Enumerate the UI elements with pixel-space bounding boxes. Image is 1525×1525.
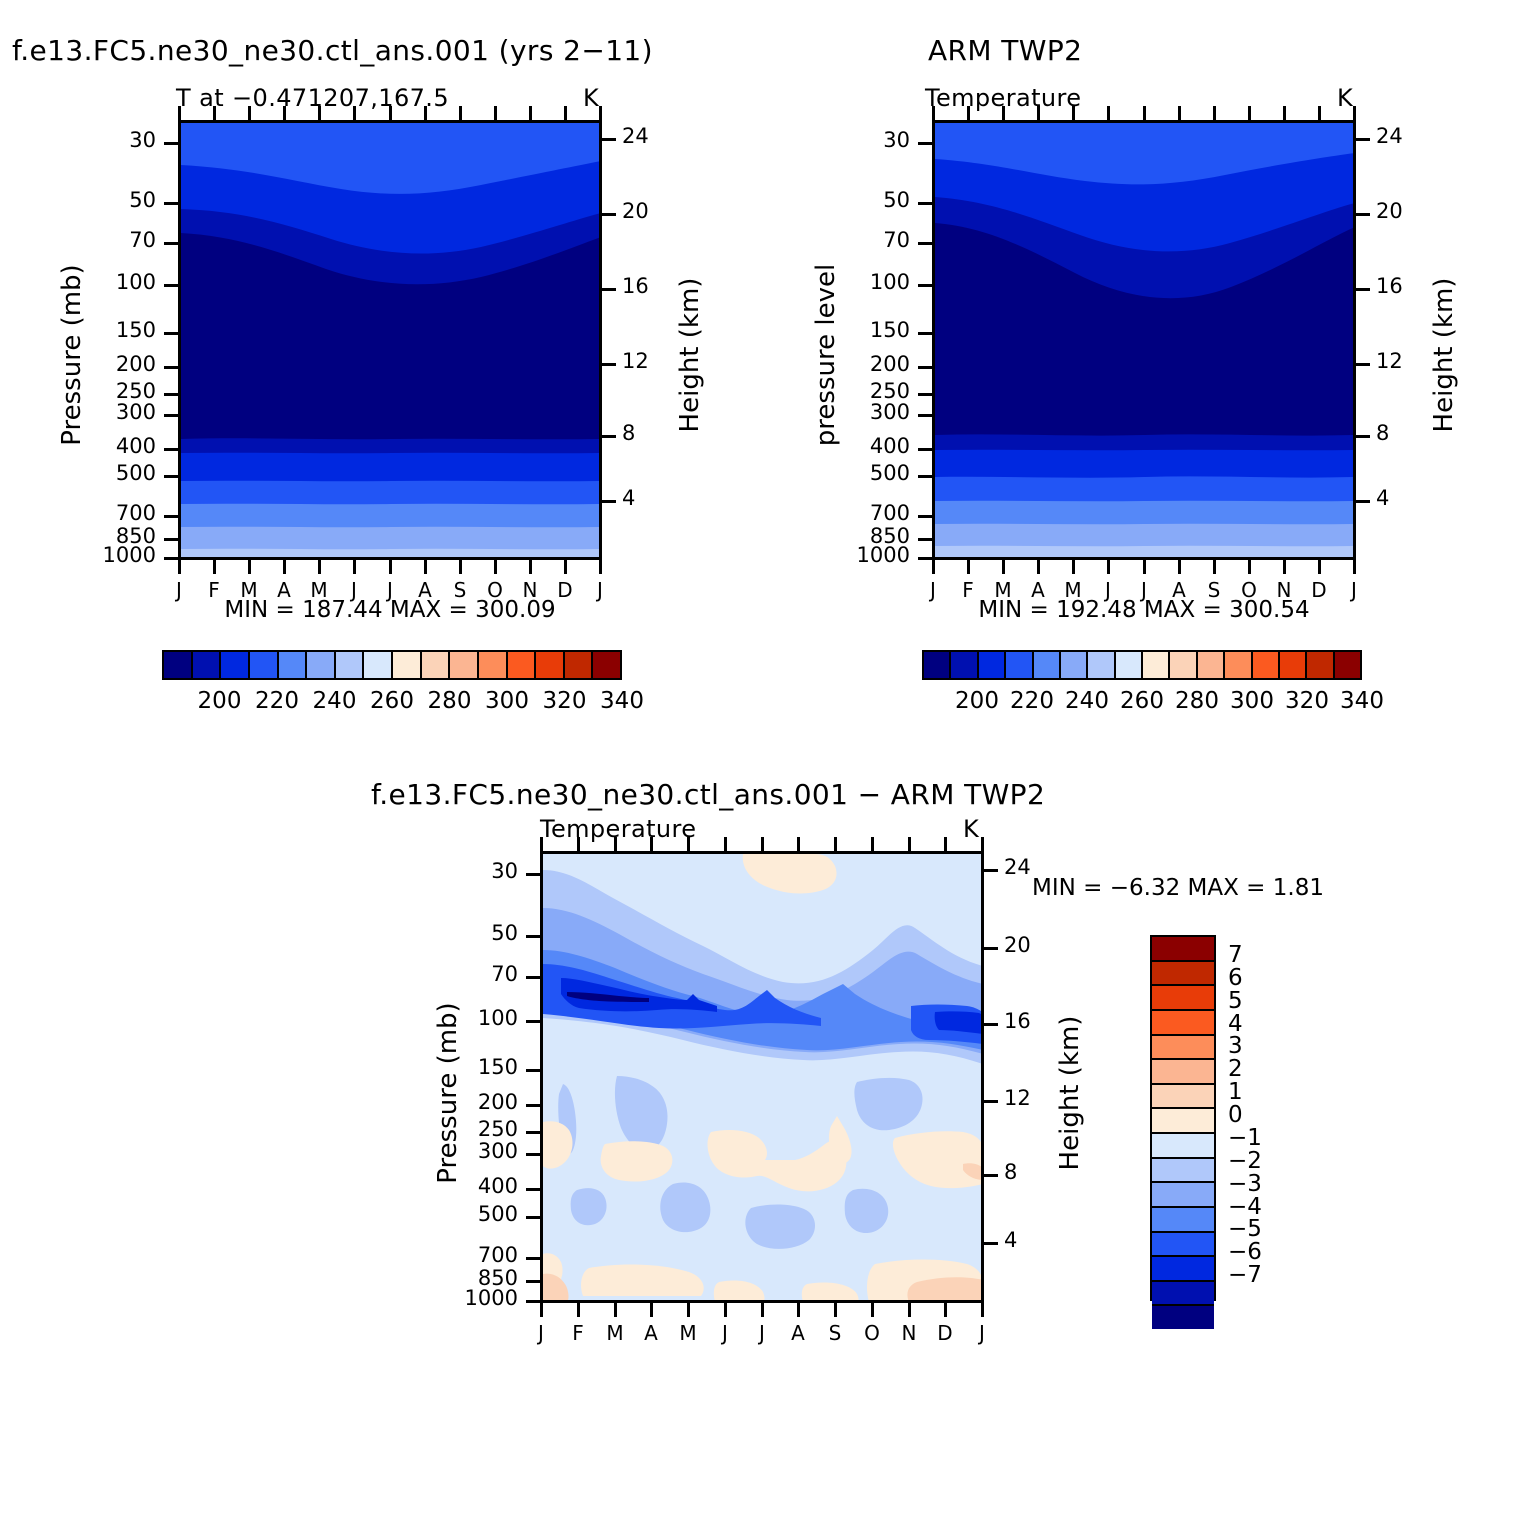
axis-tick: [761, 837, 764, 851]
axis-tick: [1356, 500, 1370, 503]
colorbar-swatch: [1152, 986, 1214, 1011]
axis-tick: [526, 873, 540, 876]
colorbar-swatch: [1152, 1306, 1214, 1329]
model-height-label: 24: [622, 124, 649, 148]
axis-tick: [602, 363, 616, 366]
diff-unit-label: K: [963, 815, 979, 843]
obs-unit-label: K: [1337, 84, 1353, 112]
axis-tick: [318, 106, 321, 120]
colorbar-swatch: [1152, 1036, 1214, 1061]
colorbar-swatch: [1307, 652, 1334, 678]
colorbar-swatch: [1006, 652, 1033, 678]
axis-tick: [164, 332, 178, 335]
axis-tick: [1107, 560, 1110, 574]
axis-tick: [213, 106, 216, 120]
colorbar-swatch: [1152, 1011, 1214, 1036]
model-ylabel-right: Height (km): [675, 255, 705, 455]
colorbar-swatch: [221, 652, 250, 678]
colorbar-swatch: [979, 652, 1006, 678]
axis-tick: [353, 106, 356, 120]
axis-tick: [1283, 106, 1286, 120]
diff-subtitle: Temperature: [540, 815, 696, 843]
axis-tick: [164, 414, 178, 417]
axis-tick: [1353, 106, 1356, 120]
colorbar-swatch: [1152, 1233, 1214, 1258]
model-plot-area[interactable]: [178, 120, 602, 560]
colorbar-tick-label: 340: [1328, 688, 1396, 714]
diff-pressure-label: 250: [428, 1117, 518, 1141]
diff-ylabel-right: Height (km): [1055, 993, 1085, 1193]
diff-pressure-label: 100: [428, 1006, 518, 1030]
axis-tick: [248, 106, 251, 120]
axis-tick: [318, 560, 321, 574]
obs-minmax-label: MIN = 192.48 MAX = 300.54: [932, 597, 1356, 623]
diff-pressure-label: 1000: [428, 1286, 518, 1310]
diff-pressure-label: 70: [428, 962, 518, 986]
colorbar-swatch: [951, 652, 978, 678]
axis-tick: [164, 393, 178, 396]
diff-pressure-label: 300: [428, 1139, 518, 1163]
obs-pressure-label: 70: [820, 228, 910, 252]
axis-tick: [164, 202, 178, 205]
axis-tick: [687, 837, 690, 851]
axis-tick: [944, 837, 947, 851]
axis-tick: [540, 837, 543, 851]
colorbar-swatch: [1143, 652, 1170, 678]
axis-tick: [797, 837, 800, 851]
obs-pressure-label: 400: [820, 434, 910, 458]
obs-plot-area[interactable]: [932, 120, 1356, 560]
model-pressure-label: 500: [66, 461, 156, 485]
colorbar-swatch: [1152, 1282, 1214, 1307]
axis-tick: [164, 284, 178, 287]
colorbar-swatch: [193, 652, 222, 678]
obs-contour-field: [935, 123, 1355, 559]
model-height-label: 8: [622, 421, 635, 445]
axis-tick: [164, 557, 178, 560]
model-pressure-label: 300: [66, 400, 156, 424]
axis-tick: [1143, 106, 1146, 120]
axis-tick: [871, 837, 874, 851]
axis-tick: [529, 106, 532, 120]
axis-tick: [1213, 106, 1216, 120]
axis-tick: [1072, 560, 1075, 574]
axis-tick: [602, 288, 616, 291]
diff-month-label: M: [678, 1321, 698, 1345]
axis-tick: [164, 475, 178, 478]
axis-tick: [178, 106, 181, 120]
diff-month-label: F: [568, 1321, 588, 1345]
obs-height-label: 8: [1376, 421, 1389, 445]
axis-tick: [178, 560, 181, 574]
axis-tick: [577, 837, 580, 851]
obs-title: ARM TWP2: [928, 34, 1082, 67]
axis-tick: [599, 106, 602, 120]
obs-height-label: 4: [1376, 486, 1389, 510]
colorbar-swatch: [164, 652, 193, 678]
obs-height-label: 16: [1376, 274, 1403, 298]
colorbar-swatch: [307, 652, 336, 678]
axis-tick: [908, 1303, 911, 1317]
axis-tick: [1353, 560, 1356, 574]
diff-pressure-label: 30: [428, 859, 518, 883]
diff-month-label: S: [825, 1321, 845, 1345]
diff-month-label: A: [788, 1321, 808, 1345]
colorbar-swatch: [1034, 652, 1061, 678]
colorbar-swatch: [536, 652, 565, 678]
diff-height-label: 4: [1004, 1228, 1017, 1252]
axis-tick: [1356, 288, 1370, 291]
axis-tick: [967, 106, 970, 120]
colorbar-swatch: [1152, 1257, 1214, 1282]
diff-minmax-label: MIN = −6.32 MAX = 1.81: [1032, 875, 1324, 901]
obs-pressure-label: 700: [820, 501, 910, 525]
diff-pressure-label: 150: [428, 1055, 518, 1079]
obs-colorbar[interactable]: [922, 650, 1362, 680]
axis-tick: [540, 1303, 543, 1317]
diff-month-label: A: [641, 1321, 661, 1345]
axis-tick: [1356, 213, 1370, 216]
axis-tick: [984, 1023, 998, 1026]
axis-tick: [602, 435, 616, 438]
axis-tick: [526, 1131, 540, 1134]
axis-tick: [1283, 560, 1286, 574]
diff-contour-field: [543, 854, 983, 1302]
axis-tick: [944, 1303, 947, 1317]
colorbar-swatch: [1152, 937, 1214, 962]
colorbar-swatch: [1170, 652, 1197, 678]
axis-tick: [984, 1100, 998, 1103]
axis-tick: [984, 1174, 998, 1177]
model-colorbar[interactable]: [162, 650, 622, 680]
axis-tick: [834, 837, 837, 851]
colorbar-swatch: [1152, 1208, 1214, 1233]
axis-tick: [614, 1303, 617, 1317]
model-pressure-label: 70: [66, 228, 156, 252]
axis-tick: [248, 560, 251, 574]
diff-pressure-label: 50: [428, 921, 518, 945]
diff-pressure-label: 700: [428, 1243, 518, 1267]
axis-tick: [494, 106, 497, 120]
axis-tick: [650, 1303, 653, 1317]
axis-tick: [283, 106, 286, 120]
diff-pressure-label: 500: [428, 1202, 518, 1226]
obs-height-label: 24: [1376, 124, 1403, 148]
colorbar-swatch: [479, 652, 508, 678]
axis-tick: [164, 242, 178, 245]
diff-month-label: J: [715, 1321, 735, 1345]
model-subtitle: T at −0.471207,167.5: [176, 84, 449, 112]
colorbar-swatch: [1225, 652, 1252, 678]
axis-tick: [577, 1303, 580, 1317]
colorbar-swatch: [1152, 962, 1214, 987]
axis-tick: [164, 448, 178, 451]
axis-tick: [761, 1303, 764, 1317]
axis-tick: [834, 1303, 837, 1317]
colorbar-swatch: [1280, 652, 1307, 678]
axis-tick: [164, 366, 178, 369]
model-pressure-label: 50: [66, 188, 156, 212]
colorbar-swatch: [1116, 652, 1143, 678]
model-contour-field: [181, 123, 601, 559]
obs-pressure-label: 300: [820, 400, 910, 424]
axis-tick: [918, 448, 932, 451]
model-pressure-label: 700: [66, 501, 156, 525]
colorbar-swatch: [364, 652, 393, 678]
axis-tick: [918, 332, 932, 335]
model-unit-label: K: [583, 84, 599, 112]
model-minmax-label: MIN = 187.44 MAX = 300.09: [178, 597, 602, 623]
obs-ylabel-right: Height (km): [1429, 255, 1459, 455]
axis-tick: [424, 560, 427, 574]
axis-tick: [602, 138, 616, 141]
axis-tick: [602, 500, 616, 503]
axis-tick: [353, 560, 356, 574]
diff-month-label: O: [862, 1321, 882, 1345]
axis-tick: [1178, 106, 1181, 120]
axis-tick: [526, 1153, 540, 1156]
diff-pressure-label: 400: [428, 1174, 518, 1198]
colorbar-swatch: [1253, 652, 1280, 678]
axis-tick: [724, 837, 727, 851]
axis-tick: [918, 284, 932, 287]
axis-tick: [967, 560, 970, 574]
axis-tick: [918, 142, 932, 145]
axis-tick: [1248, 106, 1251, 120]
diff-height-label: 16: [1004, 1009, 1031, 1033]
axis-tick: [599, 560, 602, 574]
colorbar-swatch: [1152, 1159, 1214, 1184]
colorbar-swatch: [1335, 652, 1360, 678]
axis-tick: [526, 1188, 540, 1191]
axis-tick: [213, 560, 216, 574]
axis-tick: [871, 1303, 874, 1317]
colorbar-swatch: [1152, 1085, 1214, 1110]
axis-tick: [602, 213, 616, 216]
diff-month-label: D: [935, 1321, 955, 1345]
colorbar-tick-label: −7: [1228, 1262, 1262, 1288]
axis-tick: [1356, 435, 1370, 438]
axis-tick: [918, 475, 932, 478]
colorbar-swatch: [924, 652, 951, 678]
axis-tick: [1248, 560, 1251, 574]
obs-pressure-label: 200: [820, 352, 910, 376]
axis-tick: [908, 837, 911, 851]
axis-tick: [1002, 560, 1005, 574]
diff-height-label: 20: [1004, 933, 1031, 957]
axis-tick: [164, 515, 178, 518]
obs-height-label: 20: [1376, 199, 1403, 223]
diff-plot-area[interactable]: [540, 851, 984, 1303]
model-pressure-label: 400: [66, 434, 156, 458]
axis-tick: [526, 1216, 540, 1219]
diff-month-label: J: [972, 1321, 992, 1345]
axis-tick: [164, 142, 178, 145]
axis-tick: [918, 366, 932, 369]
colorbar-swatch: [593, 652, 620, 678]
axis-tick: [164, 538, 178, 541]
obs-pressure-label: 500: [820, 461, 910, 485]
colorbar-swatch: [336, 652, 365, 678]
axis-tick: [981, 1303, 984, 1317]
obs-pressure-label: 1000: [820, 543, 910, 567]
colorbar-swatch: [1152, 1060, 1214, 1085]
axis-tick: [1107, 106, 1110, 120]
axis-tick: [650, 837, 653, 851]
axis-tick: [564, 560, 567, 574]
model-pressure-label: 100: [66, 270, 156, 294]
colorbar-swatch: [1152, 1134, 1214, 1159]
diff-title: f.e13.FC5.ne30_ne30.ctl_ans.001 − ARM TW…: [371, 778, 1045, 811]
diff-month-label: N: [899, 1321, 919, 1345]
axis-tick: [494, 560, 497, 574]
axis-tick: [932, 560, 935, 574]
axis-tick: [918, 202, 932, 205]
diff-colorbar[interactable]: [1150, 935, 1216, 1301]
axis-tick: [526, 976, 540, 979]
axis-tick: [1037, 106, 1040, 120]
colorbar-swatch: [1198, 652, 1225, 678]
axis-tick: [918, 538, 932, 541]
model-height-label: 4: [622, 486, 635, 510]
axis-tick: [918, 414, 932, 417]
axis-tick: [1213, 560, 1216, 574]
axis-tick: [526, 1300, 540, 1303]
axis-tick: [389, 106, 392, 120]
axis-tick: [918, 242, 932, 245]
axis-tick: [389, 560, 392, 574]
model-pressure-label: 200: [66, 352, 156, 376]
colorbar-swatch: [565, 652, 594, 678]
axis-tick: [918, 557, 932, 560]
diff-height-label: 8: [1004, 1160, 1017, 1184]
axis-tick: [1356, 363, 1370, 366]
model-pressure-label: 30: [66, 128, 156, 152]
axis-tick: [424, 106, 427, 120]
obs-pressure-label: 50: [820, 188, 910, 212]
axis-tick: [984, 1242, 998, 1245]
obs-pressure-label: 100: [820, 270, 910, 294]
diff-month-label: J: [752, 1321, 772, 1345]
obs-height-label: 12: [1376, 349, 1403, 373]
colorbar-swatch: [279, 652, 308, 678]
axis-tick: [981, 837, 984, 851]
colorbar-swatch: [393, 652, 422, 678]
obs-pressure-label: 30: [820, 128, 910, 152]
axis-tick: [564, 106, 567, 120]
diff-pressure-label: 200: [428, 1090, 518, 1114]
model-height-label: 20: [622, 199, 649, 223]
axis-tick: [1318, 106, 1321, 120]
colorbar-tick-label: 340: [588, 688, 656, 714]
axis-tick: [797, 1303, 800, 1317]
colorbar-swatch: [250, 652, 279, 678]
axis-tick: [724, 1303, 727, 1317]
axis-tick: [1143, 560, 1146, 574]
axis-tick: [1178, 560, 1181, 574]
axis-tick: [526, 1257, 540, 1260]
diff-month-label: J: [531, 1321, 551, 1345]
axis-tick: [1072, 106, 1075, 120]
axis-tick: [459, 106, 462, 120]
colorbar-swatch: [1152, 1183, 1214, 1208]
axis-tick: [1002, 106, 1005, 120]
model-height-label: 16: [622, 274, 649, 298]
axis-tick: [526, 1020, 540, 1023]
colorbar-swatch: [1152, 1109, 1214, 1134]
axis-tick: [459, 560, 462, 574]
model-pressure-label: 150: [66, 318, 156, 342]
axis-tick: [1356, 138, 1370, 141]
axis-tick: [529, 560, 532, 574]
model-height-label: 12: [622, 349, 649, 373]
colorbar-swatch: [1088, 652, 1115, 678]
axis-tick: [526, 1069, 540, 1072]
colorbar-swatch: [508, 652, 537, 678]
colorbar-swatch: [422, 652, 451, 678]
axis-tick: [1037, 560, 1040, 574]
axis-tick: [918, 515, 932, 518]
model-title: f.e13.FC5.ne30_ne30.ctl_ans.001 (yrs 2−1…: [12, 34, 653, 67]
axis-tick: [526, 1280, 540, 1283]
axis-tick: [283, 560, 286, 574]
axis-tick: [687, 1303, 690, 1317]
axis-tick: [614, 837, 617, 851]
axis-tick: [526, 935, 540, 938]
diff-month-label: M: [605, 1321, 625, 1345]
colorbar-swatch: [1061, 652, 1088, 678]
axis-tick: [918, 393, 932, 396]
model-pressure-label: 1000: [66, 543, 156, 567]
axis-tick: [984, 869, 998, 872]
axis-tick: [984, 947, 998, 950]
axis-tick: [526, 1104, 540, 1107]
axis-tick: [1318, 560, 1321, 574]
obs-pressure-label: 150: [820, 318, 910, 342]
diff-height-label: 12: [1004, 1086, 1031, 1110]
colorbar-swatch: [450, 652, 479, 678]
diff-height-label: 24: [1004, 855, 1031, 879]
axis-tick: [932, 106, 935, 120]
